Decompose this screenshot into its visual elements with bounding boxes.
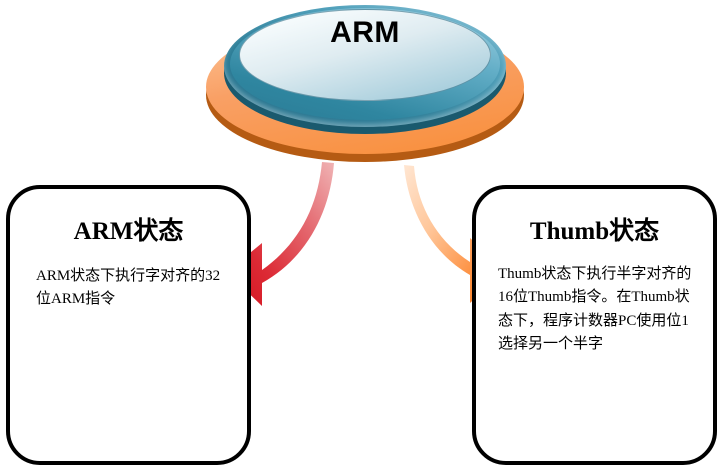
diagram-canvas: ARM ARM状态 ARM状态下执行字对齐的32位ARM指令 [0, 0, 723, 472]
thumb-state-description: Thumb状态下执行半字对齐的16位Thumb指令。在Thumb状态下，程序计数… [498, 263, 695, 356]
thumb-state-title: Thumb状态 [476, 211, 713, 247]
arm-state-description: ARM状态下执行字对齐的32位ARM指令 [36, 265, 225, 311]
arm-state-box[interactable]: ARM状态 ARM状态下执行字对齐的32位ARM指令 [6, 185, 251, 465]
arm-center-label: ARM [202, 16, 528, 50]
thumb-state-box[interactable]: Thumb状态 Thumb状态下执行半字对齐的16位Thumb指令。在Thumb… [472, 185, 717, 465]
arm-center-node[interactable]: ARM [202, 2, 528, 166]
arm-state-title: ARM状态 [10, 211, 247, 247]
